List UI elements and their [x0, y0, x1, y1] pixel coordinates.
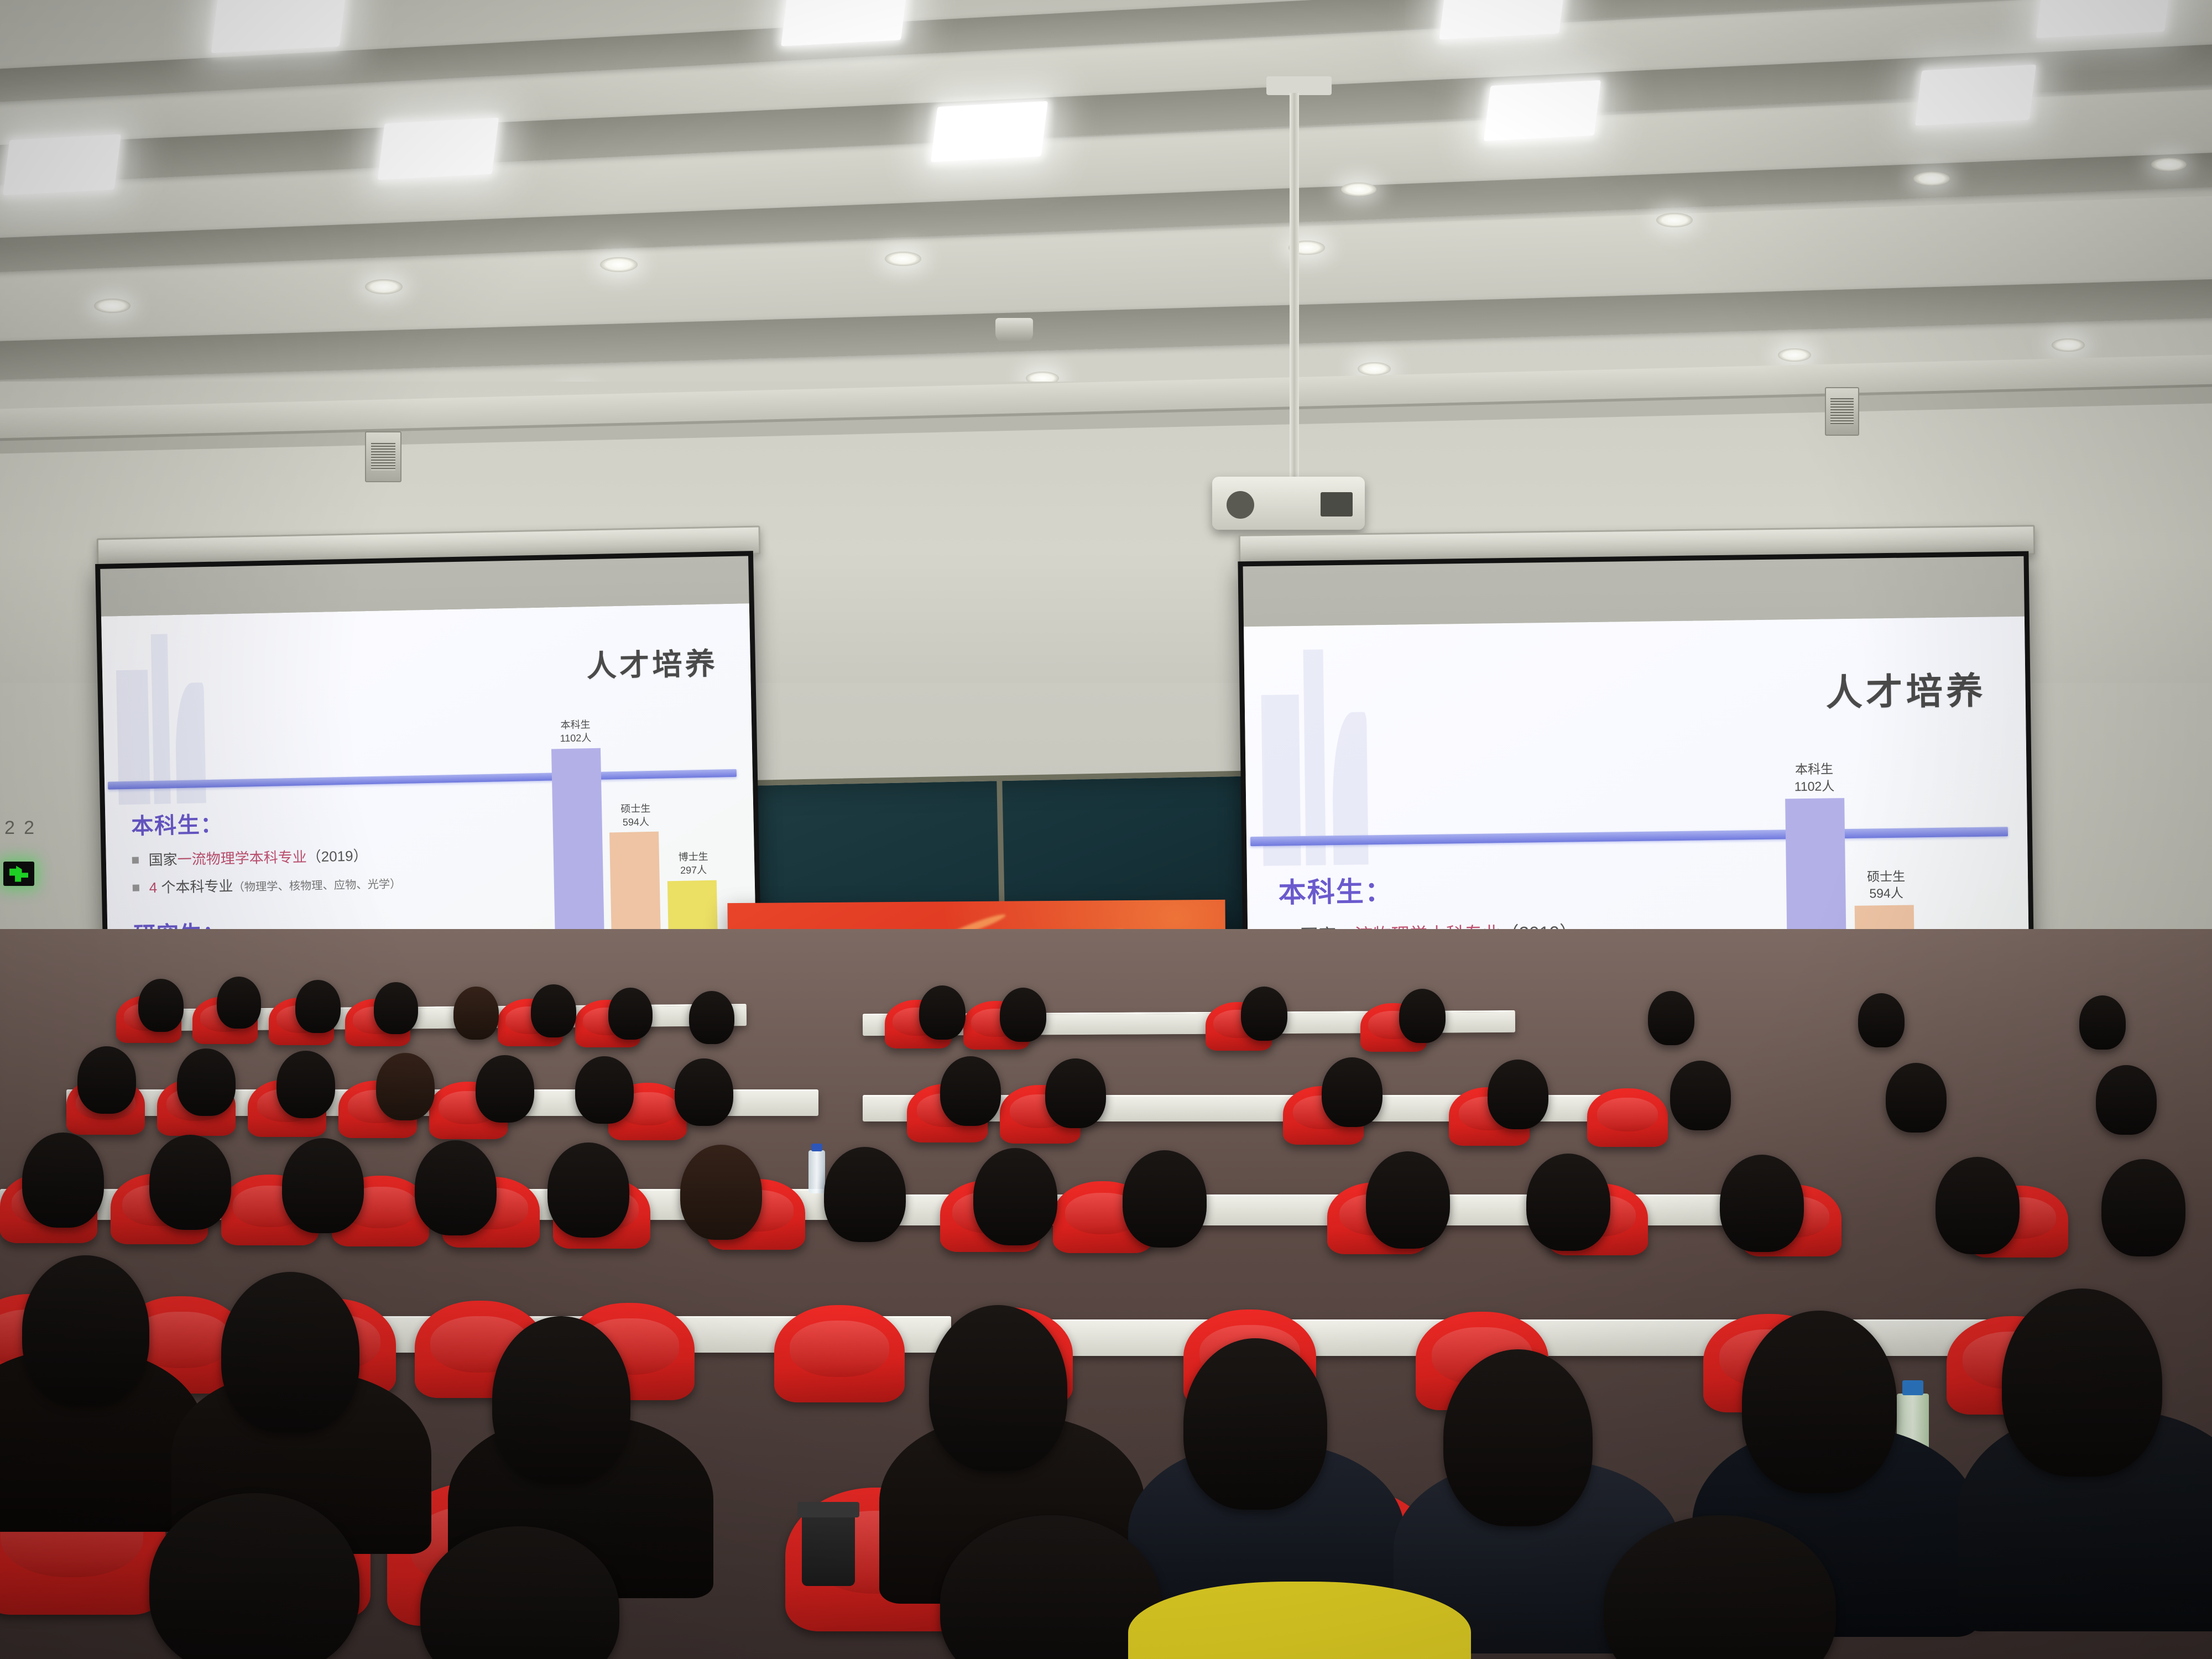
lecture-hall-scene: 2 2 人才培养 本科生： 国家一流物理学本科专业（2019） 4 个本科专业（… [0, 0, 2212, 1659]
audience-head [919, 985, 966, 1040]
ceiling-projector [1212, 477, 1365, 530]
audience-head [2096, 1065, 2157, 1135]
audience-head [1366, 1151, 1450, 1249]
bar-doctor [667, 880, 718, 931]
wall-room-number: 2 2 [4, 817, 36, 839]
security-camera [995, 318, 1033, 342]
ceiling-light-panel [3, 134, 121, 195]
list-item: 4 个本科专业（物理学、核物理、应物、光学） [132, 870, 469, 898]
bar-label-undergraduate: 本科生1102人 [1771, 760, 1858, 795]
audience-head [22, 1133, 104, 1228]
audience-head [2079, 995, 2126, 1050]
audience-head [824, 1147, 906, 1242]
audience-head [282, 1138, 364, 1233]
audience-head [1241, 987, 1287, 1041]
wall-speaker-left [365, 431, 401, 482]
audience-head [276, 1051, 335, 1118]
audience-head [1742, 1311, 1897, 1493]
ceiling-light-panel [211, 0, 348, 53]
ceiling-light-panel [1439, 0, 1566, 40]
ceiling-light-panel [931, 101, 1048, 162]
ceiling-downlight [1778, 348, 1811, 362]
bar-chart: 本科生1102人 硕士生594人 博士生297人 在校生人数 [530, 673, 737, 969]
water-bottle [808, 1150, 825, 1193]
audience-head [295, 980, 341, 1033]
audience-head [929, 1305, 1067, 1471]
audience-head [2101, 1159, 2185, 1256]
list-item: 国家一流物理学本科专业（2019） [132, 843, 469, 870]
bar-label-master: 硕士生594人 [1843, 868, 1929, 902]
audience-head [531, 984, 576, 1037]
exit-sign-icon [3, 862, 34, 886]
projector-vent [1321, 492, 1353, 517]
audience-head [415, 1140, 497, 1235]
audience-head [77, 1046, 136, 1114]
audience-head [973, 1148, 1057, 1245]
audience-area [0, 929, 2212, 1659]
audience-head [547, 1142, 629, 1238]
audience-head [1322, 1057, 1383, 1127]
projector-pole [1290, 93, 1299, 480]
audience-head [675, 1058, 733, 1126]
bar-undergraduate [551, 748, 604, 933]
audience-head [1720, 1155, 1804, 1252]
audience-head [374, 982, 418, 1034]
audience-head [1526, 1154, 1610, 1251]
ceiling-light-panel [378, 118, 499, 180]
audience-head [453, 987, 499, 1040]
slide-watermark-icon [1253, 640, 1381, 866]
auditorium-seat [1587, 1088, 1668, 1147]
ceiling-downlight [1656, 213, 1693, 227]
audience-head [492, 1316, 630, 1482]
ceiling-downlight [1913, 171, 1950, 186]
audience-head [2002, 1288, 2162, 1477]
slide-group-heading: 本科生： [131, 802, 468, 841]
projector-ceiling-mount [1266, 76, 1332, 95]
audience-head [1183, 1338, 1327, 1510]
speaker-grill [1830, 398, 1854, 424]
ceiling-light-panel [1915, 65, 2036, 126]
ceiling-light-panel [1484, 80, 1601, 141]
projector-lens [1227, 491, 1254, 519]
ceiling-downlight [365, 279, 403, 294]
audience-head [1858, 993, 1905, 1047]
audience-head [1670, 1061, 1731, 1130]
ceiling-downlight [600, 257, 638, 272]
ceiling-downlight [1358, 362, 1391, 375]
audience-head [689, 991, 734, 1044]
ceiling [0, 0, 2212, 420]
ceiling-downlight [2151, 158, 2187, 171]
audience-head [1399, 989, 1446, 1043]
audience-head [476, 1055, 534, 1123]
audience-head [217, 977, 261, 1029]
audience-head [22, 1255, 149, 1405]
running-man-icon [9, 865, 29, 881]
bar-label-undergraduate: 本科生1102人 [539, 718, 612, 746]
ceiling-downlight [2052, 338, 2085, 352]
slide-bullet-list: 国家一流物理学本科专业（2019） 4 个本科专业（物理学、核物理、应物、光学） [132, 843, 469, 898]
ceiling-downlight [885, 252, 921, 266]
coffee-cup [802, 1510, 855, 1586]
slide-watermark-icon [109, 626, 216, 805]
auditorium-seat [774, 1305, 905, 1402]
audience-head [1488, 1060, 1548, 1129]
audience-head [149, 1135, 231, 1230]
audience-head [575, 1056, 634, 1124]
audience-head [1936, 1157, 2020, 1254]
audience-head [940, 1056, 1001, 1126]
audience-head [1886, 1063, 1947, 1133]
audience-head [221, 1272, 359, 1432]
audience-head [376, 1053, 435, 1120]
audience-head [1648, 991, 1694, 1045]
bar-master [609, 832, 660, 932]
slide-group-heading: 本科生： [1278, 865, 1684, 910]
chart-plot-area: 本科生1102人 硕士生594人 博士生297人 [543, 720, 736, 935]
audience-head [1000, 988, 1046, 1042]
audience-head [608, 988, 653, 1040]
audience-head [1045, 1058, 1106, 1128]
bottle-cap [811, 1144, 822, 1151]
cup-lid [797, 1502, 859, 1517]
audience-head [177, 1048, 236, 1116]
ceiling-downlight [1341, 182, 1376, 196]
bar-label-master: 硕士生594人 [599, 802, 672, 830]
audience-head [1443, 1349, 1593, 1526]
ceiling-light-panel [781, 0, 909, 46]
audience-head [1123, 1150, 1207, 1248]
wall-speaker-right [1825, 387, 1859, 436]
audience-head [138, 979, 184, 1032]
bottle-cap [1902, 1380, 1923, 1395]
audience-head [680, 1145, 762, 1240]
speaker-grill [371, 443, 396, 470]
bar-label-doctor: 博士生297人 [658, 851, 730, 878]
ceiling-downlight [94, 299, 131, 313]
